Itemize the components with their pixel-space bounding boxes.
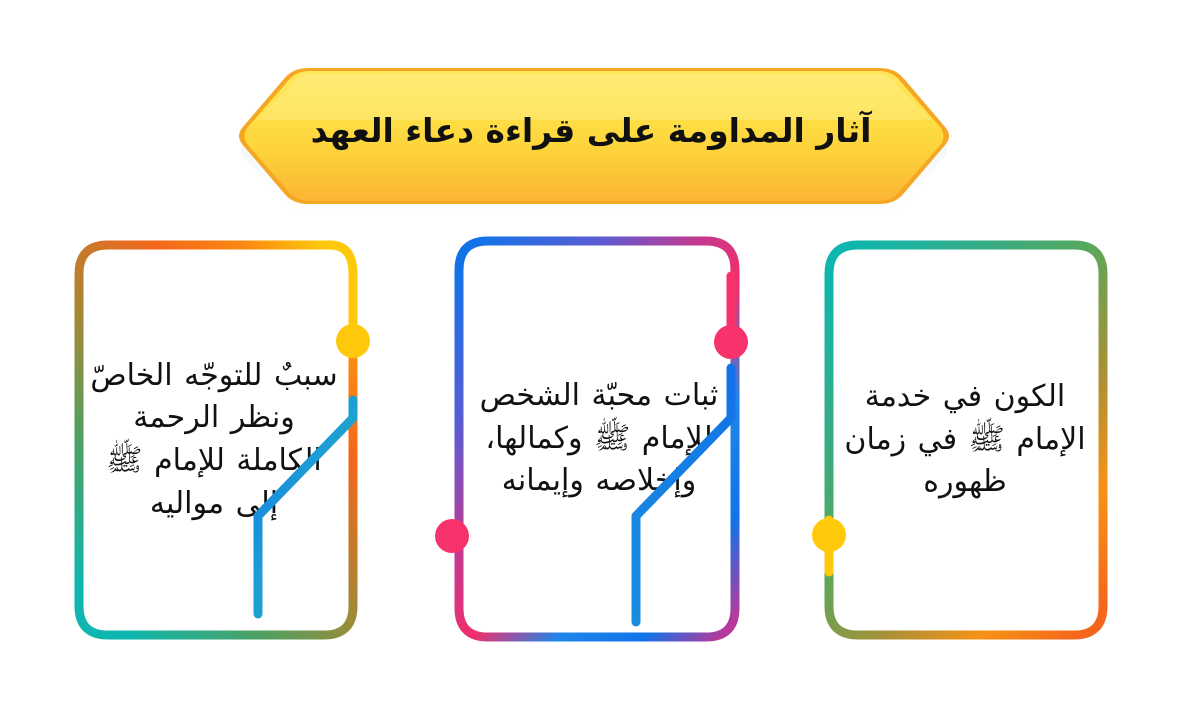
card-right-text: الكون في خدمة الإمام ﷺ في زمان ظهوره bbox=[822, 238, 1110, 642]
card-right-universe-service[interactable]: الكون في خدمة الإمام ﷺ في زمان ظهوره bbox=[822, 238, 1110, 642]
card-middle-text: ثبات محبّة الشخص للإمام ﷺ وكمالها، وإخلا… bbox=[452, 234, 742, 644]
card-left-toward-imam[interactable]: سببٌ للتوجّه الخاصّ ونظر الرحمة الكاملة … bbox=[72, 238, 360, 642]
card-left-text: سببٌ للتوجّه الخاصّ ونظر الرحمة الكاملة … bbox=[72, 238, 360, 642]
infographic-canvas: آثار المداومة على قراءة دعاء العهد سببٌ … bbox=[0, 0, 1181, 709]
page-title: آثار المداومة على قراءة دعاء العهد bbox=[232, 58, 950, 206]
card-middle-love-steadfastness[interactable]: ثبات محبّة الشخص للإمام ﷺ وكمالها، وإخلا… bbox=[452, 234, 742, 644]
header-banner: آثار المداومة على قراءة دعاء العهد bbox=[232, 58, 950, 216]
connector-right-card-diagonal bbox=[744, 368, 829, 560]
